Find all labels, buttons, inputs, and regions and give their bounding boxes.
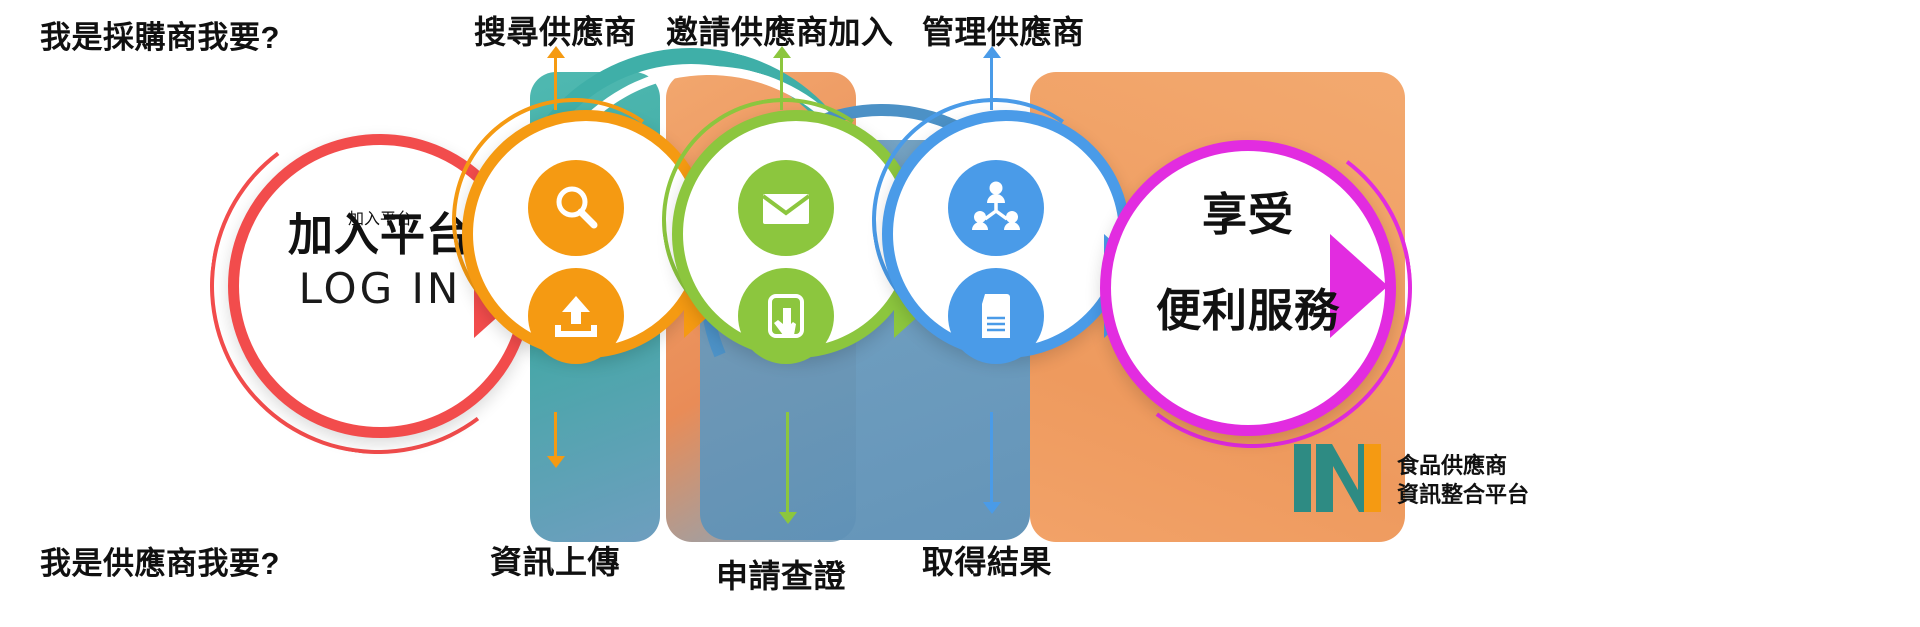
arrow-head-search (547, 46, 565, 58)
enjoy-title-line2: 便利服務 (1100, 288, 1396, 333)
brand-logo[interactable]: 食品供應商 資訊整合平台 (1292, 440, 1529, 521)
arrow-stem-verify (786, 412, 789, 514)
arrow-stem-invite (780, 52, 783, 110)
magnifier-icon (528, 160, 624, 256)
label-apply-verification: 申請查證 (716, 560, 846, 592)
label-upload-info: 資訊上傳 (490, 546, 620, 578)
arrow-head-upload (547, 456, 565, 468)
label-invite-supplier: 邀請供應商加入 (666, 16, 894, 48)
nsi-logo-mark-icon (1292, 440, 1384, 521)
label-buyer-question: 我是採購商我要? (40, 22, 280, 53)
arrow-stem-result (990, 412, 993, 504)
arrow-stem-upload (554, 412, 557, 458)
label-get-result: 取得結果 (922, 546, 1052, 578)
logo-line-2: 資訊整合平台 (1397, 482, 1529, 507)
arrow-stem-manage (990, 52, 993, 110)
arrow-stem-search (554, 52, 557, 110)
label-manage-supplier: 管理供應商 (922, 16, 1085, 48)
label-supplier-question: 我是供應商我要? (40, 548, 280, 579)
envelope-icon (738, 160, 834, 256)
people-network-icon (948, 160, 1044, 256)
arrow-head-manage (983, 46, 1001, 58)
logo-text-block: 食品供應商 資訊整合平台 (1397, 452, 1529, 509)
document-icon (948, 268, 1044, 364)
click-hand-icon (738, 268, 834, 364)
label-search-supplier: 搜尋供應商 (474, 16, 637, 48)
upload-icon (528, 268, 624, 364)
arrow-head-verify (779, 512, 797, 524)
enjoy-title-line1: 享受 (1100, 192, 1396, 237)
arrow-head-result (983, 502, 1001, 514)
infographic-canvas: 加入平台 加入平台 LOG IN (0, 0, 1920, 627)
logo-line-1: 食品供應商 (1397, 453, 1507, 478)
arrow-head-invite (773, 46, 791, 58)
